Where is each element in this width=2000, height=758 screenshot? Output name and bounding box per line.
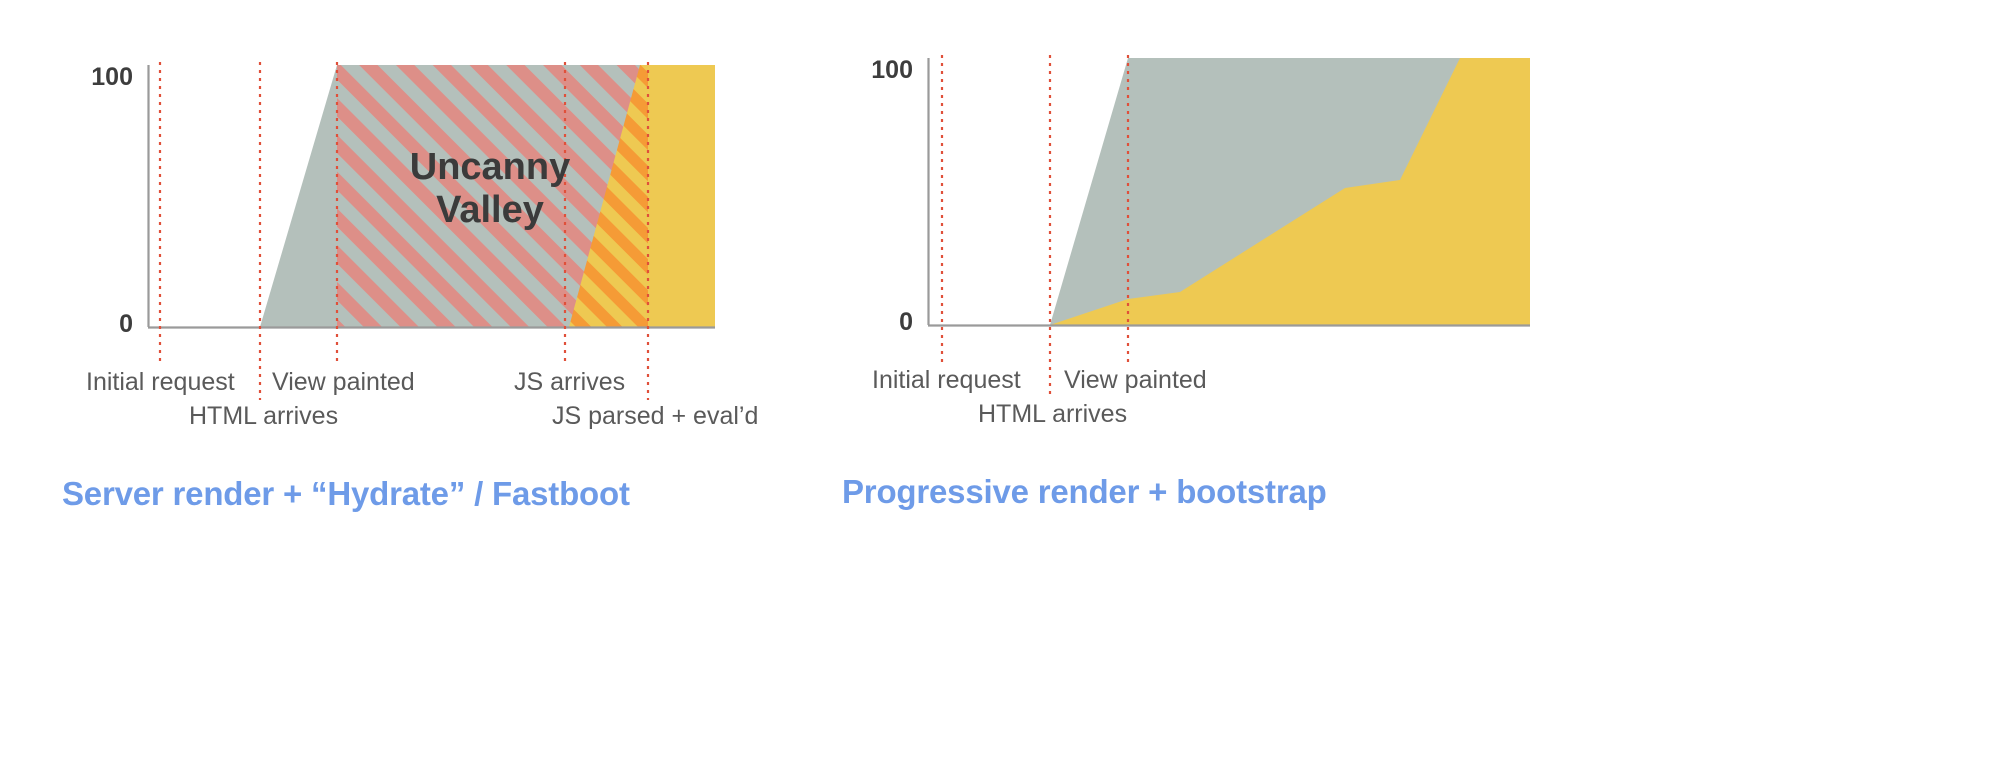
marker-label-view-painted: View painted	[1064, 366, 1207, 395]
marker-label-html-arrives: HTML arrives	[978, 400, 1127, 429]
uncanny-valley-annotation: Uncanny Valley	[345, 146, 635, 231]
chart-caption-progressive-render: Progressive render + bootstrap	[842, 473, 1327, 511]
progressive-render-chart-graphic	[780, 0, 2000, 470]
marker-label-js-arrives: JS arrives	[514, 368, 625, 397]
marker-label-initial-request: Initial request	[86, 368, 235, 397]
y-axis-max-label: 100	[78, 63, 133, 92]
chart-caption-server-render: Server render + “Hydrate” / Fastboot	[62, 475, 630, 513]
y-axis-min-label: 0	[858, 308, 913, 337]
marker-label-view-painted: View painted	[272, 368, 415, 397]
y-axis-max-label: 100	[858, 56, 913, 85]
marker-label-initial-request: Initial request	[872, 366, 1021, 395]
marker-label-html-arrives: HTML arrives	[189, 402, 338, 431]
slide-canvas: 100 0 Uncanny Valley Initial request HTM…	[0, 0, 2000, 758]
marker-label-js-parsed-evald: JS parsed + eval’d	[552, 402, 758, 431]
chart-panel-progressive-render: 100 0 Initial request HTML arrives View …	[780, 0, 2000, 758]
y-axis-min-label: 0	[78, 310, 133, 339]
